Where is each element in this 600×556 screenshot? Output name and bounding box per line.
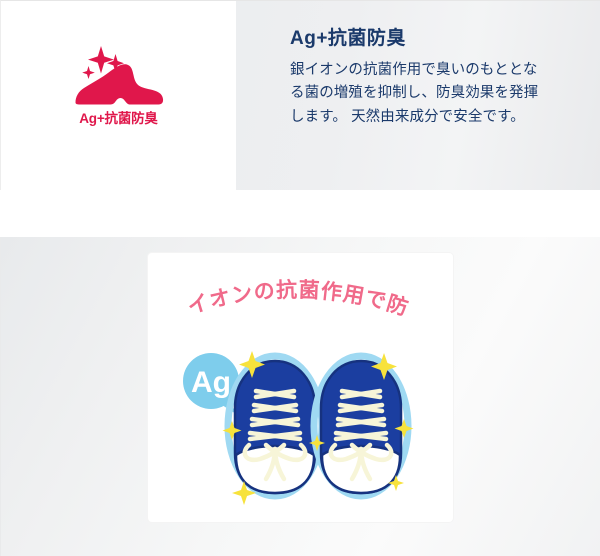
- feature-section: Ag+抗菌防臭 Ag+抗菌防臭 銀イオンの抗菌作用で臭いのもととなる菌の増殖を抑…: [0, 0, 600, 190]
- logo-caption: Ag+抗菌防臭: [59, 112, 179, 126]
- shoe-sparkle-icon: [59, 44, 179, 114]
- right-sneaker-icon: [314, 356, 408, 496]
- feature-description: 銀イオンの抗菌作用で臭いのもととなる菌の増殖を抑制し、防臭効果を発揮します。 天…: [290, 59, 542, 129]
- illustration-card: Ag: [148, 253, 453, 522]
- sneaker-illustration: Ag: [148, 253, 453, 522]
- illustration-headline: 銀イオンの抗菌作用で防臭!: [148, 253, 411, 320]
- logo-panel: Ag+抗菌防臭: [1, 1, 236, 190]
- brand-logo: Ag+抗菌防臭: [59, 44, 179, 148]
- svg-text:Ag: Ag: [191, 366, 231, 399]
- feature-text-panel: Ag+抗菌防臭 銀イオンの抗菌作用で臭いのもととなる菌の増殖を抑制し、防臭効果を…: [236, 1, 600, 190]
- left-sneaker-icon: [228, 356, 322, 496]
- svg-text:銀イオンの抗菌作用で防臭!: 銀イオンの抗菌作用で防臭!: [148, 253, 411, 320]
- illustration-section: Ag: [0, 237, 600, 556]
- feature-title: Ag+抗菌防臭: [290, 29, 580, 50]
